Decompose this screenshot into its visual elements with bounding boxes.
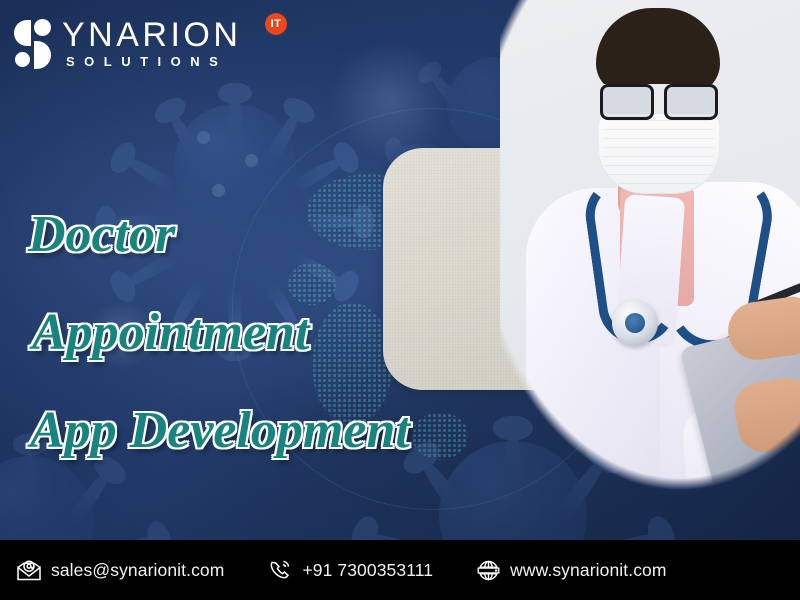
logo-text-block: YNARION SOLUTIONS IT	[62, 17, 241, 71]
headline-line-2: Appointment	[28, 284, 488, 382]
envelope-at-icon	[16, 557, 42, 583]
contact-footer-bar: sales@synarionit.com +91 7300353111	[0, 540, 800, 600]
contact-email-label: sales@synarionit.com	[51, 560, 224, 581]
doctor-photo	[500, 0, 800, 544]
contact-phone[interactable]: +91 7300353111	[267, 557, 433, 583]
contact-website[interactable]: www.synarionit.com	[475, 557, 666, 583]
contact-website-label: www.synarionit.com	[510, 560, 666, 581]
doctor-glasses	[600, 84, 718, 114]
logo-mark-top-half	[14, 20, 31, 46]
headline-block: Doctor Appointment App Development	[28, 186, 488, 480]
logo-mark-bottom-half	[34, 41, 51, 69]
phone-ring-icon	[267, 557, 293, 583]
company-logo[interactable]: YNARION SOLUTIONS IT	[14, 8, 241, 80]
contact-phone-label: +91 7300353111	[302, 560, 433, 581]
logo-s-mark-icon	[14, 16, 60, 72]
logo-tagline: SOLUTIONS	[62, 53, 241, 71]
glasses-lens-left	[600, 84, 654, 120]
stethoscope-chestpiece	[612, 300, 658, 346]
headline-line-1: Doctor	[28, 186, 488, 284]
promo-banner: YNARION SOLUTIONS IT Doctor Appointment …	[0, 0, 800, 600]
logo-mark-bottom-dot	[15, 52, 30, 67]
contact-email[interactable]: sales@synarionit.com	[16, 557, 224, 583]
logo-mark-top-dot	[34, 19, 51, 36]
headline-line-3: App Development	[28, 382, 488, 480]
logo-it-badge: IT	[265, 13, 287, 35]
logo-company-name: YNARION	[62, 17, 241, 53]
glasses-lens-right	[664, 84, 718, 120]
globe-web-icon	[475, 557, 501, 583]
